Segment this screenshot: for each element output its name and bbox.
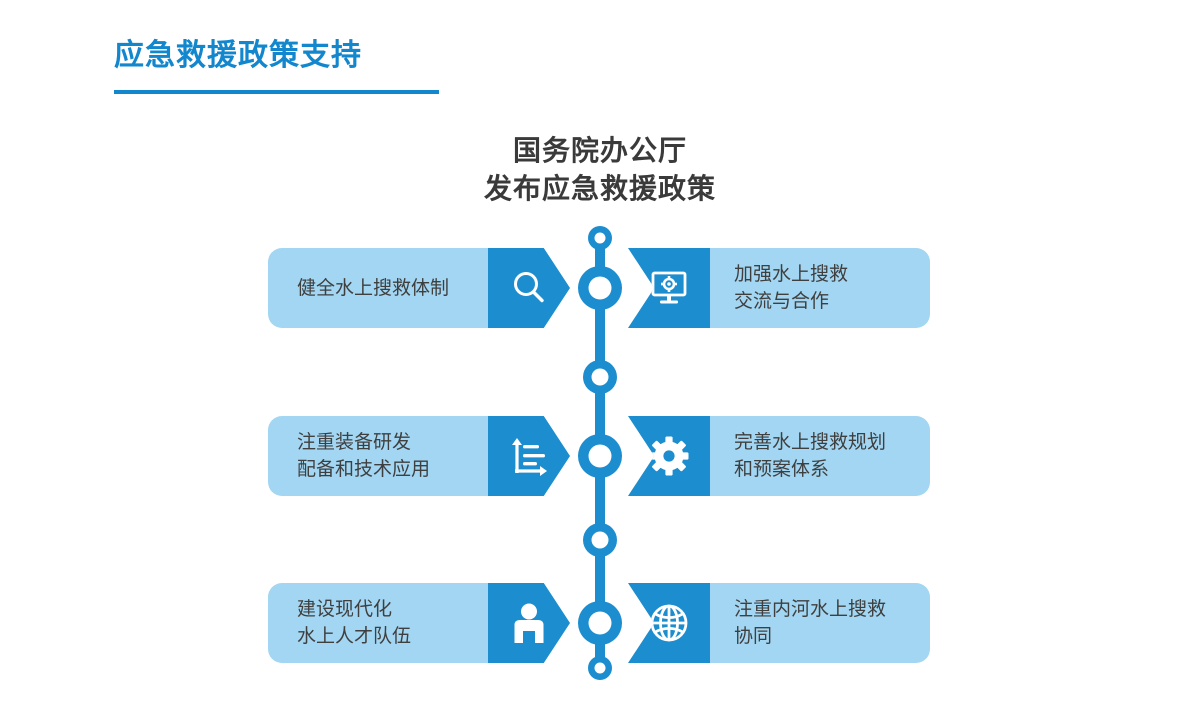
- policy-card-right-3-icon-box: [628, 583, 710, 663]
- policy-card-left-3-label-box: 建设现代化 水上人才队伍: [268, 583, 488, 663]
- policy-diagram: 健全水上搜救体制: [0, 0, 1200, 725]
- policy-card-left-2-icon-box: [488, 416, 570, 496]
- policy-card-left-1-label-box: 健全水上搜救体制: [268, 248, 488, 328]
- policy-card-right-2[interactable]: 完善水上搜救规划 和预案体系: [628, 416, 930, 496]
- policy-card-left-1-icon-box: [488, 248, 570, 328]
- policy-card-right-3[interactable]: 注重内河水上搜救 协同: [628, 583, 930, 663]
- globe-icon: [648, 602, 690, 644]
- policy-card-left-1-text: 健全水上搜救体制: [297, 275, 449, 302]
- policy-card-right-1-icon-box: [628, 248, 710, 328]
- policy-card-right-2-label-box: 完善水上搜救规划 和预案体系: [710, 416, 930, 496]
- policy-card-right-1-label-box: 加强水上搜救 交流与合作: [710, 248, 930, 328]
- policy-card-left-2-text: 注重装备研发 配备和技术应用: [297, 429, 430, 483]
- policy-card-left-3-text: 建设现代化 水上人才队伍: [297, 596, 411, 650]
- monitor-gear-icon: [648, 268, 690, 308]
- policy-card-right-3-text: 注重内河水上搜救 协同: [734, 596, 886, 650]
- policy-card-left-2[interactable]: 注重装备研发 配备和技术应用: [268, 416, 570, 496]
- policy-card-left-1[interactable]: 健全水上搜救体制: [268, 248, 570, 328]
- search-icon: [509, 268, 549, 308]
- policy-card-right-1-text: 加强水上搜救 交流与合作: [734, 261, 848, 315]
- person-icon: [509, 602, 549, 644]
- policy-card-left-3-icon-box: [488, 583, 570, 663]
- policy-card-left-3[interactable]: 建设现代化 水上人才队伍: [268, 583, 570, 663]
- gear-icon: [648, 435, 690, 477]
- policy-card-right-3-label-box: 注重内河水上搜救 协同: [710, 583, 930, 663]
- bar-chart-axis-icon: [508, 435, 550, 477]
- policy-card-right-2-text: 完善水上搜救规划 和预案体系: [734, 429, 886, 483]
- vertical-connector-spine: [566, 225, 634, 680]
- policy-card-right-2-icon-box: [628, 416, 710, 496]
- policy-card-left-2-label-box: 注重装备研发 配备和技术应用: [268, 416, 488, 496]
- policy-card-right-1[interactable]: 加强水上搜救 交流与合作: [628, 248, 930, 328]
